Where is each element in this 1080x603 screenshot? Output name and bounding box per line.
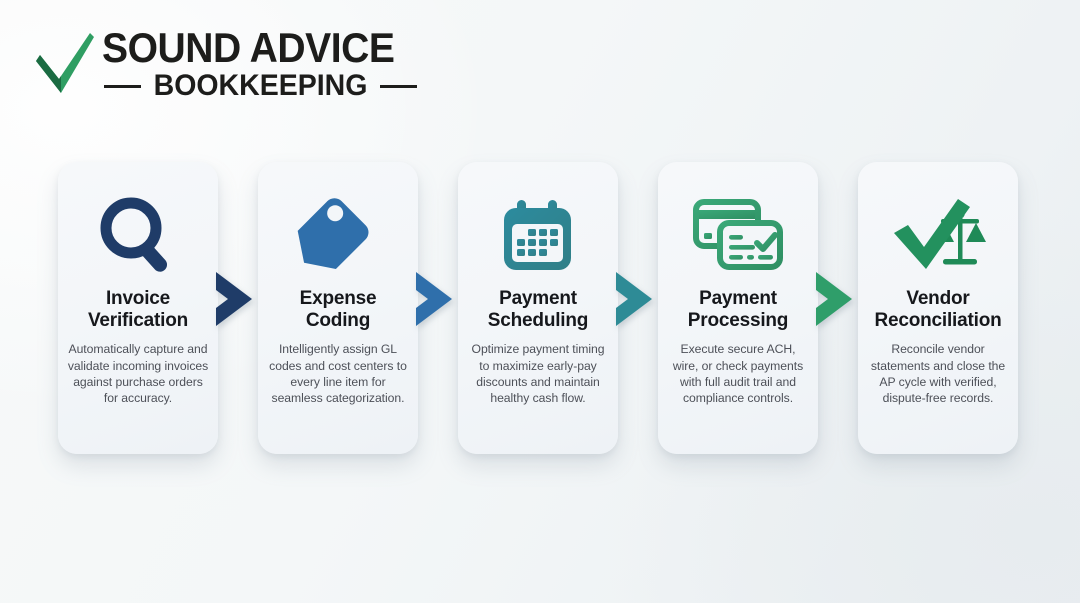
step-description: Optimize payment timing to maximize earl…: [467, 341, 609, 406]
price-tag-icon: [295, 196, 381, 274]
credit-card-check-icon: [690, 196, 786, 274]
step-card-invoice-verification[interactable]: Invoice Verification Automatically captu…: [58, 162, 218, 454]
step-description: Intelligently assign GL codes and cost c…: [267, 341, 409, 406]
step-title: Invoice Verification: [88, 288, 188, 332]
step-title-line2: Processing: [688, 310, 788, 331]
step-description: Reconcile vendor statements and close th…: [867, 341, 1009, 406]
step-title-line2: Verification: [88, 310, 188, 331]
step-title-line2: Scheduling: [488, 310, 588, 331]
step-title-line2: Reconciliation: [874, 310, 1001, 331]
green-checkmark-icon: [34, 31, 96, 99]
step-description: Automatically capture and validate incom…: [67, 341, 209, 406]
step-title-line1: Payment: [699, 288, 777, 309]
step-card-payment-processing[interactable]: Payment Processing Execute secure ACH, w…: [658, 162, 818, 454]
chevron-arrow-4: [812, 270, 856, 328]
logo-rule-right: [380, 85, 417, 88]
step-title-line1: Vendor: [906, 288, 969, 309]
calendar-icon: [495, 196, 581, 274]
step-description: Execute secure ACH, wire, or check payme…: [667, 341, 809, 406]
step-card-payment-scheduling[interactable]: Payment Scheduling Optimize payment timi…: [458, 162, 618, 454]
logo-rule-left: [104, 85, 141, 88]
chevron-arrow-1: [212, 270, 256, 328]
step-title: Payment Processing: [688, 288, 788, 332]
brand-line2: BOOKKEEPING: [153, 71, 367, 101]
step-title-line1: Payment: [499, 288, 577, 309]
magnifying-glass-icon: [95, 196, 181, 274]
step-title: Expense Coding: [300, 288, 377, 332]
step-title: Payment Scheduling: [488, 288, 588, 332]
checkmark-scales-icon: [888, 196, 988, 274]
step-title: Vendor Reconciliation: [874, 288, 1001, 332]
step-title-line2: Coding: [306, 310, 370, 331]
chevron-arrow-2: [412, 270, 456, 328]
brand-line2-row: BOOKKEEPING: [102, 71, 416, 101]
brand-line1: SOUND ADVICE: [102, 27, 394, 68]
step-title-line1: Expense: [300, 288, 377, 309]
chevron-arrow-3: [612, 270, 656, 328]
step-card-expense-coding[interactable]: Expense Coding Intelligently assign GL c…: [258, 162, 418, 454]
brand-logo: SOUND ADVICE BOOKKEEPING: [34, 27, 416, 101]
infographic-canvas: SOUND ADVICE BOOKKEEPING Invoice Verific…: [0, 0, 1080, 603]
step-title-line1: Invoice: [106, 288, 170, 309]
step-card-vendor-reconciliation[interactable]: Vendor Reconciliation Reconcile vendor s…: [858, 162, 1018, 454]
process-flow: Invoice Verification Automatically captu…: [0, 156, 1080, 466]
brand-wordmark: SOUND ADVICE BOOKKEEPING: [102, 27, 416, 101]
